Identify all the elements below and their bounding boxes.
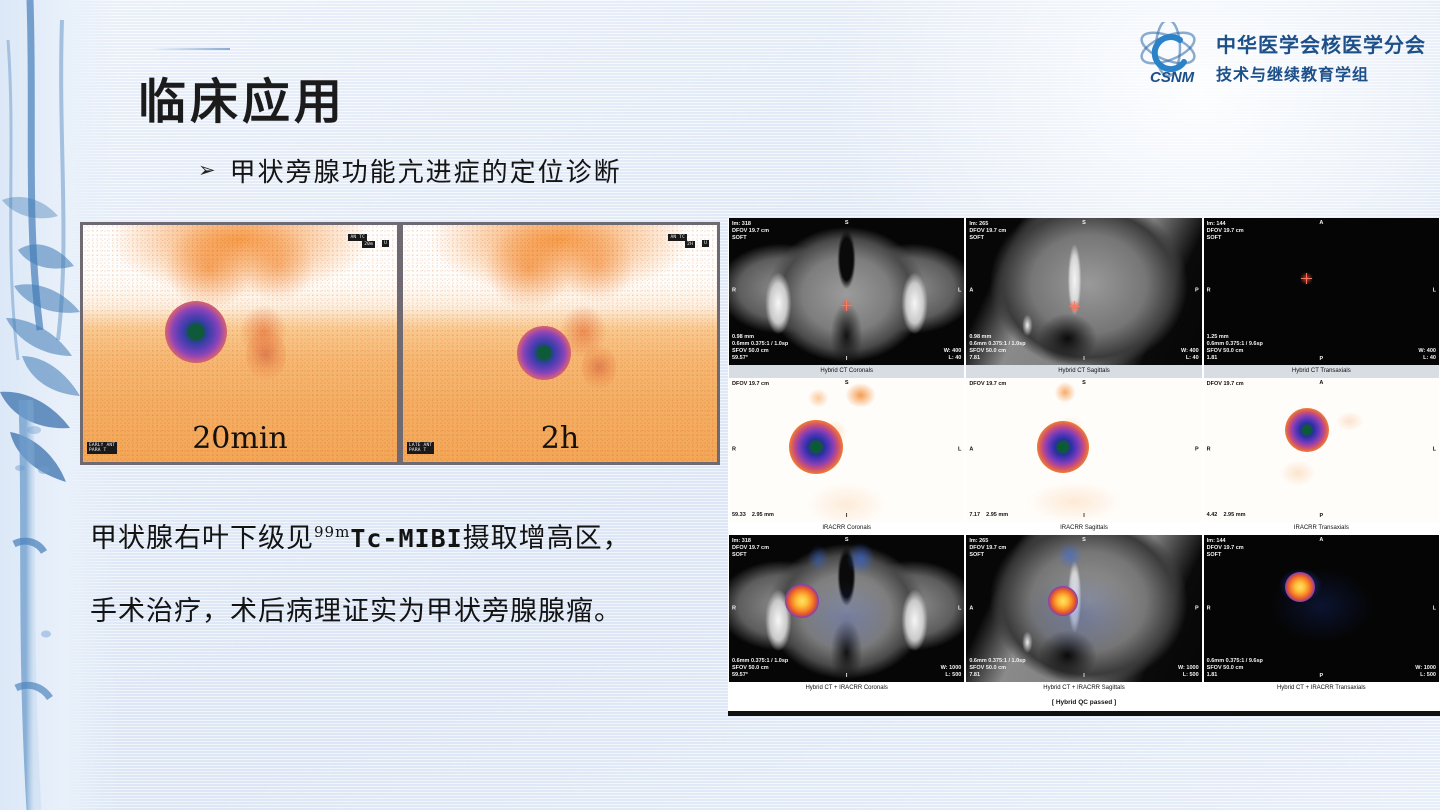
logo-group-name: 技术与继续教育学组 <box>1216 61 1426 85</box>
ct-sagittal-marker-bottom: I <box>966 356 1201 363</box>
planar-label-20min: 20min <box>83 421 397 456</box>
spect-coronal-render <box>729 378 964 523</box>
spect-sagittal-marker-bottom: I <box>966 513 1201 520</box>
spect-coronal-marker-bottom: I <box>729 513 964 520</box>
ct-sagittal-cell: Im: 265 DFOV 19.7 cm SOFT 0.98 mm 0.6mm … <box>966 218 1201 378</box>
planar-scintigraphy-pair: AN TC 20m U EARLY ANT PARA T 20min AN TC… <box>80 222 720 465</box>
ct-sagittal-caption: Hybrid CT Sagittals <box>966 365 1201 378</box>
fusion-coronal-caption: Hybrid CT + IRACRR Coronals <box>729 682 964 695</box>
ct-coronal-caption: Hybrid CT Coronals <box>729 365 964 378</box>
montage-row-spect: DFOV 19.7 cm 59.33 2.95 mm R L S I IRACR… <box>728 378 1440 536</box>
planar-label-2h: 2h <box>403 421 717 456</box>
ct-axial-image: Im: 144 DFOV 19.7 cm SOFT 1.25 mm 0.6mm … <box>1204 218 1439 365</box>
planar-image-20min: AN TC 20m U EARLY ANT PARA T 20min <box>83 225 397 462</box>
fusion-axial-cell: Im: 144 DFOV 19.7 cm SOFT 0.6mm 0.375:1 … <box>1204 535 1439 695</box>
csnm-logo-icon: CSNM <box>1134 22 1208 88</box>
planar-image-2h: AN TC 2H U LATE ANT PARA T 2h <box>403 225 717 462</box>
spect-sagittal-caption: IRACRR Sagittals <box>966 522 1201 535</box>
isotope-superscript: 99m <box>314 523 350 541</box>
bullet-text: 甲状旁腺功能亢进症的定位诊断 <box>230 152 622 189</box>
planar-tag-time-20min: 20m <box>362 241 375 248</box>
fusion-sagittal-marker-left: A <box>969 605 973 612</box>
planar-tag-isotope-2h: AN TC <box>668 234 687 241</box>
fusion-sagittal-marker-bottom: I <box>966 673 1201 680</box>
spect-coronal-image: DFOV 19.7 cm 59.33 2.95 mm R L S I <box>729 378 964 523</box>
planar-tag-time-2h: 2H <box>685 241 695 248</box>
title-rule <box>150 48 230 50</box>
spect-coronal-hotspot <box>789 420 843 474</box>
roi-crosshair-icon <box>840 299 853 312</box>
spect-sagittal-image: DFOV 19.7 cm 7.17 2.95 mm A P S I <box>966 378 1201 523</box>
hybrid-qc-status: [ Hybrid QC passed ] <box>728 695 1440 711</box>
fusion-axial-caption: Hybrid CT + IRACRR Transaxials <box>1204 682 1439 695</box>
fusion-sagittal-hotspot <box>1048 586 1078 616</box>
tracer-name: Tc-MIBI <box>350 524 462 553</box>
ct-axial-marker-top: A <box>1204 220 1439 227</box>
faint-uptake-2h <box>582 344 616 390</box>
spect-axial-hotspot <box>1285 408 1329 452</box>
spect-sagittal-cell: DFOV 19.7 cm 7.17 2.95 mm A P S I IRACRR… <box>966 378 1201 536</box>
fusion-coronal-marker-left: R <box>732 605 736 612</box>
ct-axial-caption: Hybrid CT Transaxials <box>1204 365 1439 378</box>
ct-coronal-marker-left: R <box>732 288 736 295</box>
ct-coronal-cell: Im: 318 DFOV 19.7 cm SOFT 0.98 mm 0.6mm … <box>729 218 964 378</box>
spect-axial-marker-left: R <box>1207 447 1211 454</box>
fusion-coronal-marker-bottom: I <box>729 673 964 680</box>
ct-axial-marker-right: L <box>1433 288 1436 295</box>
ct-axial-marker-left: R <box>1207 288 1211 295</box>
ct-sagittal-marker-top: S <box>966 220 1201 227</box>
arrow-bullet-icon: ➢ <box>198 160 216 181</box>
montage-row-fusion: Im: 318 DFOV 19.7 cm SOFT 0.6mm 0.375:1 … <box>728 535 1440 695</box>
spect-axial-image: DFOV 19.7 cm 4.42 2.95 mm R L A P <box>1204 378 1439 523</box>
roi-crosshair-icon <box>1068 300 1081 313</box>
fusion-axial-hotspot <box>1285 572 1315 602</box>
ct-axial-cell: Im: 144 DFOV 19.7 cm SOFT 1.25 mm 0.6mm … <box>1204 218 1439 378</box>
bullet-row: ➢ 甲状旁腺功能亢进症的定位诊断 <box>198 152 622 189</box>
fusion-axial-marker-right: L <box>1433 605 1436 612</box>
montage-row-ct: Im: 318 DFOV 19.7 cm SOFT 0.98 mm 0.6mm … <box>728 218 1440 378</box>
findings-caption-line-1: 甲状腺右叶下级见99mTc-MIBI摄取增高区， <box>90 516 710 555</box>
findings-caption-line-2: 手术治疗，术后病理证实为甲状旁腺腺瘤。 <box>90 589 710 628</box>
hotspot-2h <box>517 326 571 380</box>
planar-tag-isotope-20min: AN TC <box>348 234 367 241</box>
csnm-wordmark: CSNM <box>1150 69 1195 86</box>
ct-sagittal-image: Im: 265 DFOV 19.7 cm SOFT 0.98 mm 0.6mm … <box>966 218 1201 365</box>
spect-axial-cell: DFOV 19.7 cm 4.42 2.95 mm R L A P IRACRR… <box>1204 378 1439 536</box>
spect-axial-render <box>1204 378 1439 523</box>
page-title: 临床应用 <box>138 62 346 132</box>
fusion-coronal-image: Im: 318 DFOV 19.7 cm SOFT 0.6mm 0.375:1 … <box>729 535 964 682</box>
planar-tag-orientation-20min: U <box>382 240 389 247</box>
fusion-coronal-marker-right: L <box>958 605 961 612</box>
ct-coronal-marker-bottom: I <box>729 356 964 363</box>
fusion-axial-image: Im: 144 DFOV 19.7 cm SOFT 0.6mm 0.375:1 … <box>1204 535 1439 682</box>
fusion-sagittal-marker-right: P <box>1195 605 1199 612</box>
ct-axial-marker-bottom: P <box>1204 356 1439 363</box>
planar-tag-orientation-2h: U <box>702 240 709 247</box>
fusion-axial-marker-bottom: P <box>1204 673 1439 680</box>
fusion-sagittal-caption: Hybrid CT + IRACRR Sagittals <box>966 682 1201 695</box>
findings-line1-suffix: 摄取增高区， <box>463 523 631 554</box>
spect-sagittal-marker-right: P <box>1195 447 1199 454</box>
findings-caption: 甲状腺右叶下级见99mTc-MIBI摄取增高区， 手术治疗，术后病理证实为甲状旁… <box>90 516 710 662</box>
fusion-sagittal-image: Im: 265 DFOV 19.7 cm SOFT 0.6mm 0.375:1 … <box>966 535 1201 682</box>
hotspot-20min <box>165 301 227 363</box>
csnm-logo: CSNM 中华医学会核医学分会 技术与继续教育学组 <box>1134 18 1424 92</box>
spect-sagittal-hotspot <box>1037 421 1089 473</box>
ct-sagittal-marker-right: P <box>1195 288 1199 295</box>
spect-coronal-marker-left: R <box>732 447 736 454</box>
fusion-axial-marker-left: R <box>1207 605 1211 612</box>
fusion-sagittal-marker-top: S <box>966 537 1201 544</box>
ct-coronal-marker-top: S <box>729 220 964 227</box>
spect-coronal-marker-top: S <box>729 380 964 387</box>
spect-ct-montage: Im: 318 DFOV 19.7 cm SOFT 0.98 mm 0.6mm … <box>728 218 1440 716</box>
ct-coronal-marker-right: L <box>958 288 961 295</box>
spect-axial-caption: IRACRR Transaxials <box>1204 522 1439 535</box>
fusion-coronal-marker-top: S <box>729 537 964 544</box>
spect-coronal-cell: DFOV 19.7 cm 59.33 2.95 mm R L S I IRACR… <box>729 378 964 536</box>
spect-coronal-caption: IRACRR Coronals <box>729 522 964 535</box>
spect-sagittal-marker-left: A <box>969 447 973 454</box>
spect-axial-marker-bottom: P <box>1204 513 1439 520</box>
findings-line1-prefix: 甲状腺右叶下级见 <box>90 523 314 554</box>
spect-sagittal-marker-top: S <box>966 380 1201 387</box>
spect-axial-marker-right: L <box>1433 447 1436 454</box>
fusion-axial-marker-top: A <box>1204 537 1439 544</box>
ct-sagittal-marker-left: A <box>969 288 973 295</box>
fusion-coronal-cell: Im: 318 DFOV 19.7 cm SOFT 0.6mm 0.375:1 … <box>729 535 964 695</box>
fusion-sagittal-cell: Im: 265 DFOV 19.7 cm SOFT 0.6mm 0.375:1 … <box>966 535 1201 695</box>
spect-axial-marker-top: A <box>1204 380 1439 387</box>
ct-coronal-image: Im: 318 DFOV 19.7 cm SOFT 0.98 mm 0.6mm … <box>729 218 964 365</box>
logo-society-name: 中华医学会核医学分会 <box>1216 29 1426 58</box>
spect-coronal-marker-right: L <box>958 447 961 454</box>
